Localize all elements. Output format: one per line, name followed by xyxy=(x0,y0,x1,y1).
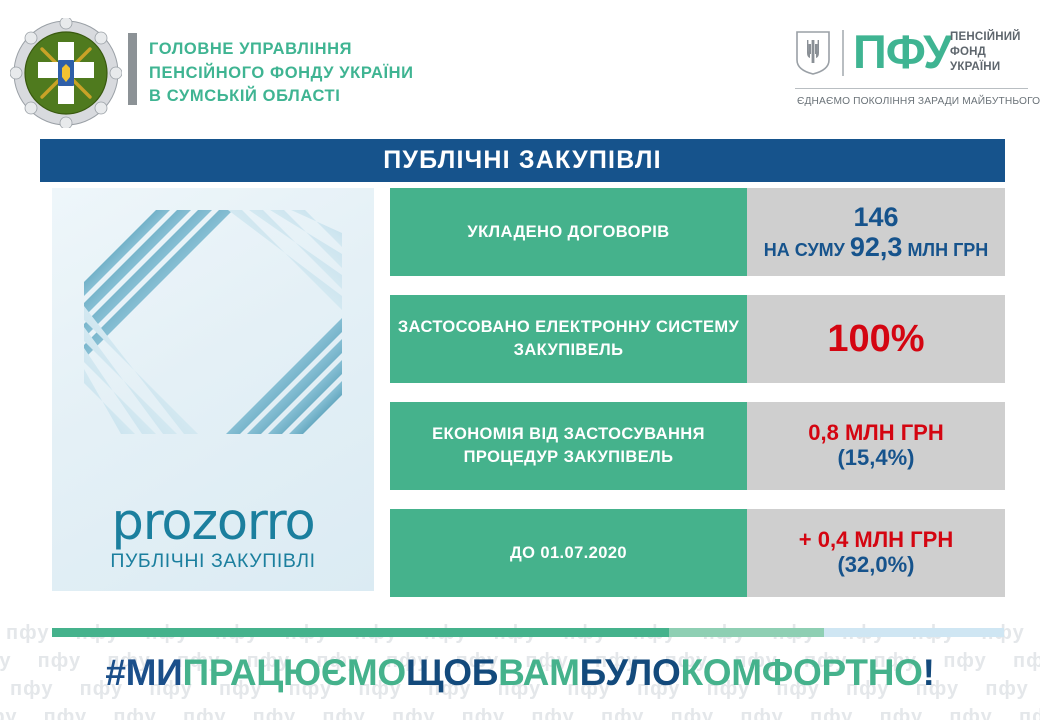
page-title: ПУБЛІЧНІ ЗАКУПІВЛІ xyxy=(383,146,661,175)
pfu-subtitle-line-2: ФОНД xyxy=(950,45,1021,60)
pfu-subtitle: ПЕНСІЙНИЙ ФОНД УКРАЇНИ xyxy=(950,30,1021,75)
prozorro-wordmark: prozorro xyxy=(52,493,374,552)
stat-value: 0,8 МЛН ГРН (15,4%) xyxy=(747,402,1005,490)
stat-value-secondary: (15,4%) xyxy=(837,446,914,471)
pfu-logo-divider xyxy=(842,30,844,76)
stats-table: УКЛАДЕНО ДОГОВОРІВ 146 НА СУМУ 92,3 МЛН … xyxy=(390,188,1005,616)
stat-value-primary: 146 xyxy=(853,202,898,232)
table-row: ЗАСТОСОВАНО ЕЛЕКТРОННУ СИСТЕМУ ЗАКУПІВЕЛ… xyxy=(390,295,1005,383)
accent-bar-segment-2 xyxy=(669,628,824,637)
stat-value-secondary: НА СУМУ 92,3 МЛН ГРН xyxy=(764,232,989,262)
prozorro-diamond-logo-icon xyxy=(60,196,366,496)
header-divider xyxy=(128,33,137,105)
hashtag-part-5: КОМФОРТНО xyxy=(680,652,922,693)
accent-bar-segment-1 xyxy=(52,628,669,637)
stat-value-unit: МЛН ГРН xyxy=(902,240,988,260)
stat-value: 146 НА СУМУ 92,3 МЛН ГРН xyxy=(747,188,1005,276)
org-title-line-3: В СУМСЬКІЙ ОБЛАСТІ xyxy=(149,85,449,109)
organization-title: ГОЛОВНЕ УПРАВЛІННЯ ПЕНСІЙНОГО ФОНДУ УКРА… xyxy=(149,38,449,109)
pfu-subtitle-line-1: ПЕНСІЙНИЙ xyxy=(950,30,1021,45)
ukraine-trident-coat-of-arms-icon xyxy=(795,30,831,76)
pfu-subtitle-line-3: УКРАЇНИ xyxy=(950,60,1021,75)
stat-label: ЕКОНОМІЯ ВІД ЗАСТОСУВАННЯ ПРОЦЕДУР ЗАКУП… xyxy=(390,402,747,490)
pfu-rule xyxy=(795,88,1028,89)
pfu-slogan: ЄДНАЄМО ПОКОЛІННЯ ЗАРАДИ МАЙБУТНЬОГО xyxy=(797,96,1040,107)
accent-bar-segment-3 xyxy=(824,628,1004,637)
stat-value: + 0,4 МЛН ГРН (32,0%) xyxy=(747,509,1005,597)
table-row: УКЛАДЕНО ДОГОВОРІВ 146 НА СУМУ 92,3 МЛН … xyxy=(390,188,1005,276)
stat-label: ДО 01.07.2020 xyxy=(390,509,747,597)
pfu-wordmark: ПФУ xyxy=(853,24,951,80)
hashtag-part-2: ЩОБ xyxy=(406,652,498,693)
page-footer: пфу пфу пфу пфу пфу пфу пфу пфу пфу пфу … xyxy=(0,620,1040,720)
org-title-line-1: ГОЛОВНЕ УПРАВЛІННЯ xyxy=(149,38,449,62)
hashtag-part-3: ВАМ xyxy=(498,652,580,693)
hashtag-slogan: #МИПРАЦЮЄМОЩОБВАМБУЛОКОМФОРТНО! xyxy=(0,652,1040,694)
prozorro-tagline: ПУБЛІЧНІ ЗАКУПІВЛІ xyxy=(52,550,374,573)
stat-value-amount: 92,3 xyxy=(850,232,903,262)
stat-value: 100% xyxy=(747,295,1005,383)
page-header: ГОЛОВНЕ УПРАВЛІННЯ ПЕНСІЙНОГО ФОНДУ УКРА… xyxy=(0,0,1040,132)
stat-value-primary: 100% xyxy=(827,318,924,361)
stat-value-primary: + 0,4 МЛН ГРН xyxy=(799,528,953,553)
hashtag-part-6: ! xyxy=(923,652,935,693)
table-row: ДО 01.07.2020 + 0,4 МЛН ГРН (32,0%) xyxy=(390,509,1005,597)
watermark-row: пфу пфу пфу пфу пфу пфу пфу пфу пфу пфу … xyxy=(0,698,1040,720)
accent-bar xyxy=(52,628,1004,637)
hashtag-part-1: ПРАЦЮЄМО xyxy=(182,652,405,693)
section-title-bar: ПУБЛІЧНІ ЗАКУПІВЛІ xyxy=(40,139,1005,182)
stat-value-prefix: НА СУМУ xyxy=(764,240,850,260)
stat-value-primary: 0,8 МЛН ГРН xyxy=(808,421,944,446)
stat-label: УКЛАДЕНО ДОГОВОРІВ xyxy=(390,188,747,276)
hashtag-part-4: БУЛО xyxy=(580,652,681,693)
prozorro-logo-panel: prozorro ПУБЛІЧНІ ЗАКУПІВЛІ xyxy=(52,188,374,591)
hashtag-part-0: #МИ xyxy=(105,652,182,693)
pension-fund-emblem-icon xyxy=(10,18,122,128)
org-title-line-2: ПЕНСІЙНОГО ФОНДУ УКРАЇНИ xyxy=(149,62,449,86)
stat-value-secondary: (32,0%) xyxy=(837,553,914,578)
table-row: ЕКОНОМІЯ ВІД ЗАСТОСУВАННЯ ПРОЦЕДУР ЗАКУП… xyxy=(390,402,1005,490)
stat-label: ЗАСТОСОВАНО ЕЛЕКТРОННУ СИСТЕМУ ЗАКУПІВЕЛ… xyxy=(390,295,747,383)
pfu-logo: ПФУ ПЕНСІЙНИЙ ФОНД УКРАЇНИ ЄДНАЄМО ПОКОЛ… xyxy=(795,26,1030,114)
